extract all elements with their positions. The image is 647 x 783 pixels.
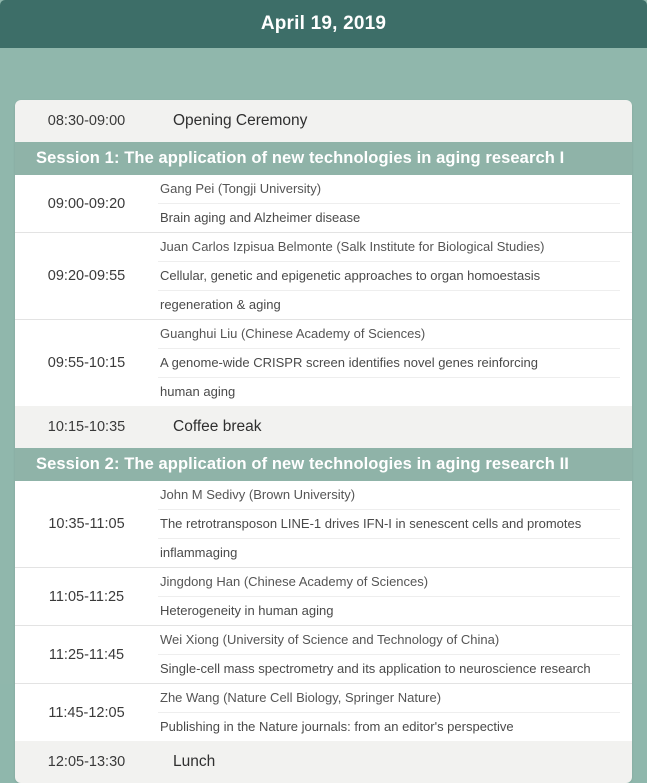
opening-ceremony-row: 08:30-09:00 Opening Ceremony <box>15 100 632 142</box>
lunch-time: 12:05-13:30 <box>15 754 158 770</box>
talk-title: Single-cell mass spectrometry and its ap… <box>158 655 620 683</box>
talk-row: 09:20-09:55 Juan Carlos Izpisua Belmonte… <box>15 233 632 320</box>
session-1-talks: 09:00-09:20 Gang Pei (Tongji University)… <box>15 175 632 406</box>
talk-time: 09:20-09:55 <box>15 233 158 319</box>
talk-speaker: Guanghui Liu (Chinese Academy of Science… <box>158 320 620 349</box>
talk-title-continued: human aging <box>158 378 620 406</box>
talk-content: Jingdong Han (Chinese Academy of Science… <box>158 568 632 625</box>
coffee-break-label: Coffee break <box>158 418 261 436</box>
talk-row: 09:00-09:20 Gang Pei (Tongji University)… <box>15 175 632 233</box>
page-title: April 19, 2019 <box>261 13 386 35</box>
talk-content: Juan Carlos Izpisua Belmonte (Salk Insti… <box>158 233 632 319</box>
talk-speaker: Jingdong Han (Chinese Academy of Science… <box>158 568 620 597</box>
talk-speaker: Juan Carlos Izpisua Belmonte (Salk Insti… <box>158 233 620 262</box>
opening-ceremony-time: 08:30-09:00 <box>15 113 158 129</box>
schedule-page: April 19, 2019 08:30-09:00 Opening Cerem… <box>0 0 647 684</box>
talk-content: Wei Xiong (University of Science and Tec… <box>158 626 632 683</box>
session-2-title: Session 2: The application of new techno… <box>15 455 569 474</box>
session-2-banner: Session 2: The application of new techno… <box>15 448 632 481</box>
talk-content: Gang Pei (Tongji University) Brain aging… <box>158 175 632 232</box>
talk-title: Cellular, genetic and epigenetic approac… <box>158 262 620 291</box>
talk-speaker: Wei Xiong (University of Science and Tec… <box>158 626 620 655</box>
coffee-break-row: 10:15-10:35 Coffee break <box>15 406 632 448</box>
talk-content: Guanghui Liu (Chinese Academy of Science… <box>158 320 632 406</box>
talk-speaker: Gang Pei (Tongji University) <box>158 175 620 204</box>
talk-speaker: John M Sedivy (Brown University) <box>158 481 620 510</box>
lunch-row: 12:05-13:30 Lunch <box>15 741 632 783</box>
talk-title: A genome-wide CRISPR screen identifies n… <box>158 349 620 378</box>
coffee-break-time: 10:15-10:35 <box>15 419 158 435</box>
talk-row: 09:55-10:15 Guanghui Liu (Chinese Academ… <box>15 320 632 406</box>
session-1-title: Session 1: The application of new techno… <box>15 149 564 168</box>
session-1-banner: Session 1: The application of new techno… <box>15 142 632 175</box>
talk-time: 09:55-10:15 <box>15 320 158 406</box>
talk-title: Heterogeneity in human aging <box>158 597 620 625</box>
talk-time: 11:25-11:45 <box>15 626 158 683</box>
talk-time: 10:35-11:05 <box>15 481 158 567</box>
talk-title-continued: regeneration & aging <box>158 291 620 319</box>
talk-title: The retrotransposon LINE-1 drives IFN-I … <box>158 510 620 539</box>
talk-row: 10:35-11:05 John M Sedivy (Brown Univers… <box>15 481 632 568</box>
talk-row: 11:25-11:45 Wei Xiong (University of Sci… <box>15 626 632 684</box>
opening-ceremony-label: Opening Ceremony <box>158 112 307 130</box>
talk-content: John M Sedivy (Brown University) The ret… <box>158 481 632 567</box>
schedule-card: 08:30-09:00 Opening Ceremony Session 1: … <box>15 100 632 783</box>
talk-time: 11:45-12:05 <box>15 684 158 741</box>
talk-title-continued: inflammaging <box>158 539 620 567</box>
session-2-talks: 10:35-11:05 John M Sedivy (Brown Univers… <box>15 481 632 741</box>
talk-content: Zhe Wang (Nature Cell Biology, Springer … <box>158 684 632 741</box>
talk-time: 11:05-11:25 <box>15 568 158 625</box>
talk-title: Brain aging and Alzheimer disease <box>158 204 620 232</box>
talk-row: 11:45-12:05 Zhe Wang (Nature Cell Biolog… <box>15 684 632 741</box>
date-header: April 19, 2019 <box>0 0 647 48</box>
talk-row: 11:05-11:25 Jingdong Han (Chinese Academ… <box>15 568 632 626</box>
talk-speaker: Zhe Wang (Nature Cell Biology, Springer … <box>158 684 620 713</box>
talk-time: 09:00-09:20 <box>15 175 158 232</box>
talk-title: Publishing in the Nature journals: from … <box>158 713 620 741</box>
lunch-label: Lunch <box>158 753 215 771</box>
